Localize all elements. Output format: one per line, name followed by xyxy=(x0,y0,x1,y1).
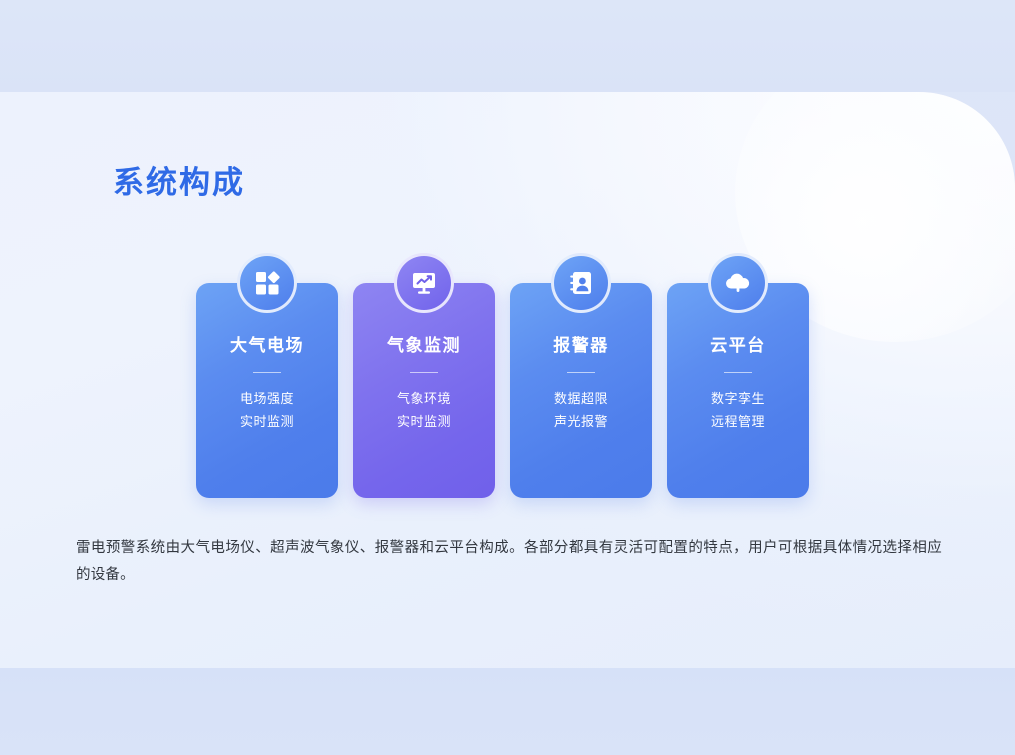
card-title: 大气电场 xyxy=(196,338,338,355)
card-description-line2: 远程管理 xyxy=(667,411,809,434)
page-title: 系统构成 xyxy=(113,157,245,202)
card-divider xyxy=(410,372,438,373)
card-description-line2: 声光报警 xyxy=(510,411,652,434)
card-description-line2: 实时监测 xyxy=(353,411,495,434)
four-blocks-icon xyxy=(237,253,297,313)
card-weather-monitoring[interactable]: 气象监测 气象环境 实时监测 xyxy=(353,283,495,498)
card-title: 气象监测 xyxy=(353,338,495,355)
card-description-line1: 数据超限 xyxy=(510,388,652,411)
card-description: 气象环境 实时监测 xyxy=(353,388,495,434)
card-divider xyxy=(567,372,595,373)
card-divider xyxy=(724,372,752,373)
card-alarm-device[interactable]: 报警器 数据超限 声光报警 xyxy=(510,283,652,498)
bottom-decoration-band xyxy=(0,668,1015,755)
cloud-upload-icon xyxy=(708,253,768,313)
top-decoration-band xyxy=(0,0,1015,92)
card-description-line1: 电场强度 xyxy=(196,388,338,411)
card-description: 电场强度 实时监测 xyxy=(196,388,338,434)
body-paragraph: 雷电预警系统由大气电场仪、超声波气象仪、报警器和云平台构成。各部分都具有灵活可配… xyxy=(76,535,942,589)
card-list: 大气电场 电场强度 实时监测 气象监测 气象环境 xyxy=(196,283,809,498)
card-description-line1: 气象环境 xyxy=(353,388,495,411)
monitor-chart-icon xyxy=(394,253,454,313)
card-description-line1: 数字孪生 xyxy=(667,388,809,411)
card-atmospheric-field[interactable]: 大气电场 电场强度 实时监测 xyxy=(196,283,338,498)
card-title: 云平台 xyxy=(667,338,809,355)
card-title: 报警器 xyxy=(510,338,652,355)
contact-card-icon xyxy=(551,253,611,313)
card-description: 数据超限 声光报警 xyxy=(510,388,652,434)
card-cloud-platform[interactable]: 云平台 数字孪生 远程管理 xyxy=(667,283,809,498)
card-divider xyxy=(253,372,281,373)
slide-page: 系统构成 大气电场 电场强度 实时监测 xyxy=(0,0,1015,755)
card-description-line2: 实时监测 xyxy=(196,411,338,434)
card-description: 数字孪生 远程管理 xyxy=(667,388,809,434)
